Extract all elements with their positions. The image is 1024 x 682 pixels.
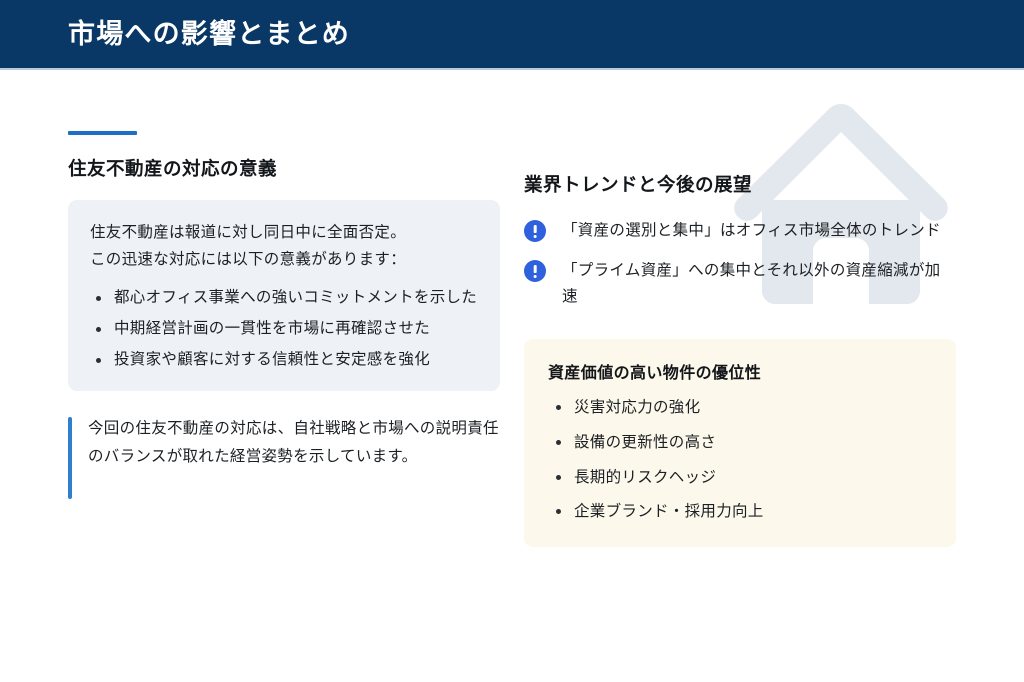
- left-column: 住友不動産の対応の意義 住友不動産は報道に対し同日中に全面否定。 この迅速な対応…: [68, 131, 500, 470]
- list-item-label: 「資産の選別と集中」はオフィス市場全体のトレンド: [562, 218, 956, 245]
- list-item-label: 災害対応力の強化: [574, 399, 700, 416]
- list-item: 「プライム資産」への集中とそれ以外の資産縮減が加速: [524, 258, 956, 311]
- list-item: 災害対応力の強化: [548, 396, 932, 421]
- alert-circle-icon: [524, 260, 546, 282]
- list-item-label: 企業ブランド・採用力向上: [574, 503, 764, 520]
- significance-bullet-list: 都心オフィス事業への強いコミットメントを示した 中期経営計画の一貫性を市場に再確…: [90, 285, 478, 373]
- bullet-dot-icon: [96, 358, 101, 363]
- list-item-label: 都心オフィス事業への強いコミットメントを示した: [114, 289, 477, 306]
- list-item: 設備の更新性の高さ: [548, 431, 932, 456]
- list-item: 投資家や顧客に対する信頼性と安定感を強化: [90, 347, 478, 374]
- bullet-dot-icon: [556, 509, 561, 514]
- list-item: 中期経営計画の一貫性を市場に再確認させた: [90, 316, 478, 343]
- significance-card: 住友不動産は報道に対し同日中に全面否定。 この迅速な対応には以下の意義があります…: [68, 200, 500, 391]
- list-item: 長期的リスクヘッジ: [548, 466, 932, 491]
- list-item: 企業ブランド・採用力向上: [548, 500, 932, 525]
- list-item-label: 長期的リスクヘッジ: [574, 469, 716, 486]
- industry-trend-list: 「資産の選別と集中」はオフィス市場全体のトレンド 「プライム資産」への集中とそれ…: [524, 218, 956, 311]
- list-item-label: 「プライム資産」への集中とそれ以外の資産縮減が加速: [562, 258, 956, 311]
- quote-text: 今回の住友不動産の対応は、自社戦略と市場への説明責任のバランスが取れた経営姿勢を…: [88, 415, 500, 470]
- accent-bar: [68, 131, 137, 135]
- quote-accent-rule: [68, 417, 72, 499]
- right-column: 業界トレンドと今後の展望 「資産の選別と集中」はオフィス市場全体のトレンド 「プ…: [524, 173, 956, 547]
- bullet-dot-icon: [556, 440, 561, 445]
- significance-intro-line-1: 住友不動産は報道に対し同日中に全面否定。: [90, 220, 478, 247]
- premium-asset-card-heading: 資産価値の高い物件の優位性: [548, 359, 932, 383]
- list-item: 都心オフィス事業への強いコミットメントを示した: [90, 285, 478, 312]
- slide-header: 市場への影響とまとめ: [0, 0, 1024, 68]
- page-title: 市場への影響とまとめ: [68, 21, 350, 48]
- list-item-label: 中期経営計画の一貫性を市場に再確認させた: [114, 320, 430, 337]
- significance-intro-line-2: この迅速な対応には以下の意義があります：: [90, 247, 478, 274]
- bullet-dot-icon: [96, 296, 101, 301]
- bullet-dot-icon: [96, 327, 101, 332]
- bullet-dot-icon: [556, 405, 561, 410]
- list-item-label: 設備の更新性の高さ: [574, 434, 716, 451]
- premium-asset-bullet-list: 災害対応力の強化 設備の更新性の高さ 長期的リスクヘッジ 企業ブランド・採用力向…: [548, 396, 932, 525]
- left-section-heading: 住友不動産の対応の意義: [68, 157, 500, 181]
- list-item: 「資産の選別と集中」はオフィス市場全体のトレンド: [524, 218, 956, 245]
- alert-circle-icon: [524, 220, 546, 242]
- slide-body: 住友不動産の対応の意義 住友不動産は報道に対し同日中に全面否定。 この迅速な対応…: [0, 68, 1024, 682]
- premium-asset-card: 資産価値の高い物件の優位性 災害対応力の強化 設備の更新性の高さ 長期的リスクヘ…: [524, 339, 956, 547]
- summary-quote-block: 今回の住友不動産の対応は、自社戦略と市場への説明責任のバランスが取れた経営姿勢を…: [68, 415, 500, 470]
- bullet-dot-icon: [556, 475, 561, 480]
- right-section-heading: 業界トレンドと今後の展望: [524, 173, 956, 197]
- list-item-label: 投資家や顧客に対する信頼性と安定感を強化: [114, 351, 430, 368]
